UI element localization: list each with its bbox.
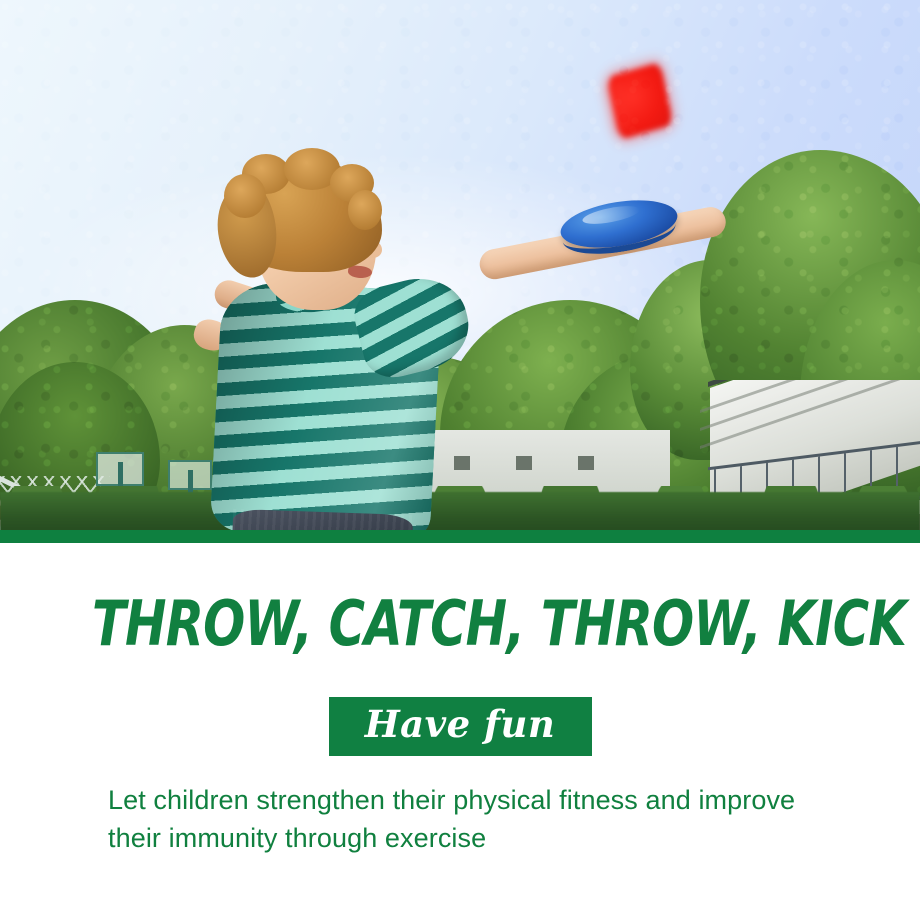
headline: THROW, CATCH, THROW, KICK (92, 593, 828, 655)
have-fun-badge-label: Have fun (365, 702, 556, 746)
poster: THROW, CATCH, THROW, KICK Have fun Let c… (0, 0, 920, 920)
boy-hair-curl (348, 190, 382, 230)
boy-hair-curl (224, 174, 266, 218)
hero-photo (0, 0, 920, 530)
boy-sleeve (349, 268, 478, 384)
text-content-area: THROW, CATCH, THROW, KICK Have fun Let c… (0, 543, 920, 920)
badge-row: Have fun (0, 697, 920, 756)
green-divider-bar (0, 530, 920, 543)
blue-frisbee (560, 198, 685, 258)
subtitle-text: Let children strengthen their physical f… (108, 781, 838, 858)
boy-figure (180, 160, 610, 530)
have-fun-badge: Have fun (329, 697, 592, 756)
